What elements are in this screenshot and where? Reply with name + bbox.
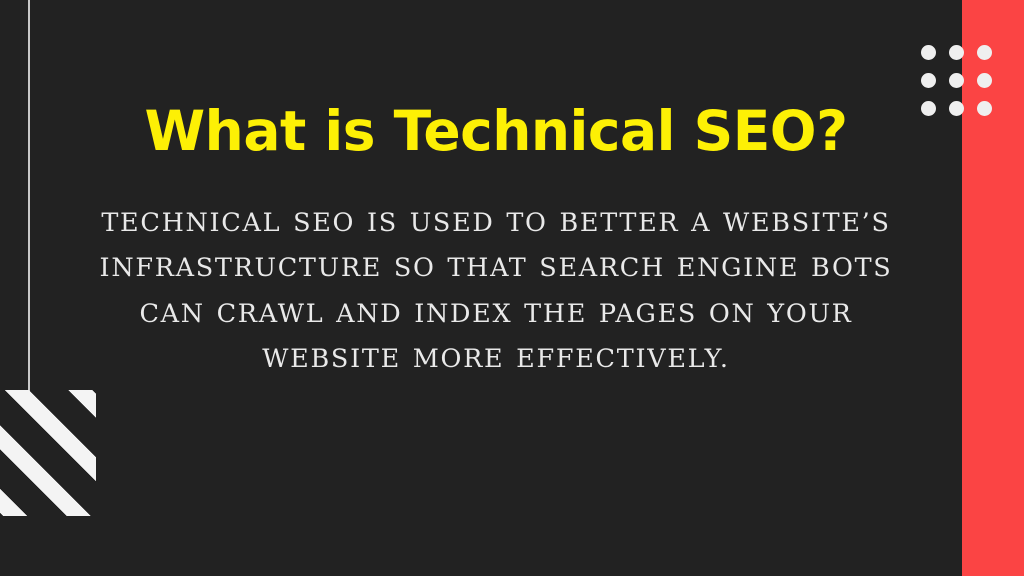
dot-grid-dot xyxy=(949,45,964,60)
diagonal-stripes-pattern xyxy=(0,390,96,516)
dot-grid-dot xyxy=(921,101,936,116)
dot-grid-dot xyxy=(949,101,964,116)
dot-grid-dot xyxy=(977,45,992,60)
slide-body-text: Technical SEO is used to better a websit… xyxy=(70,201,922,382)
diagonal-stripes-decoration xyxy=(0,390,96,516)
dot-grid-dot xyxy=(949,73,964,88)
dot-grid-dot xyxy=(977,73,992,88)
dot-grid-dot xyxy=(921,73,936,88)
slide-content: What is Technical SEO? Technical SEO is … xyxy=(70,100,922,382)
slide-headline: What is Technical SEO? xyxy=(70,100,922,163)
slide-canvas: What is Technical SEO? Technical SEO is … xyxy=(0,0,1024,576)
vertical-rule-decoration xyxy=(28,0,30,392)
dot-grid-dot xyxy=(921,45,936,60)
dot-grid-decoration xyxy=(921,45,1005,129)
dot-grid-dot xyxy=(977,101,992,116)
